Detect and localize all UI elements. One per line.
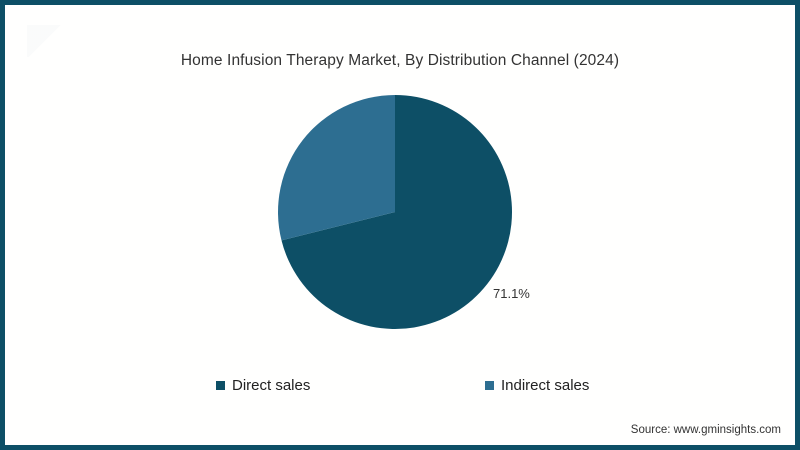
legend-item-direct-sales[interactable]: Direct sales (216, 375, 310, 395)
pie-slices (278, 95, 512, 329)
pie-slice-value-label: 71.1% (493, 286, 530, 301)
legend-swatch-icon (216, 381, 225, 390)
legend-item-indirect-sales[interactable]: Indirect sales (485, 375, 589, 395)
legend-label: Indirect sales (501, 377, 589, 394)
legend-swatch-icon (485, 381, 494, 390)
pie-chart-svg (273, 90, 517, 334)
chart-figure: Home Infusion Therapy Market, By Distrib… (0, 0, 800, 450)
legend-label: Direct sales (232, 377, 310, 394)
page-title: Home Infusion Therapy Market, By Distrib… (5, 52, 795, 70)
source-attribution: Source: www.gminsights.com (631, 424, 781, 436)
pie-chart (273, 90, 517, 334)
chart-legend: Direct sales Indirect sales (5, 375, 800, 399)
